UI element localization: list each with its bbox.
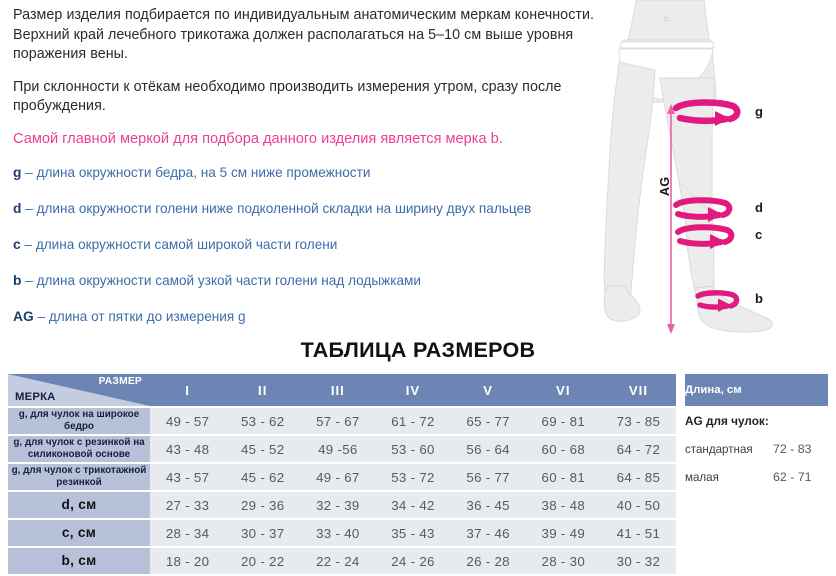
figure-label-b: b bbox=[755, 291, 763, 306]
cell-r0-c6: 69 - 81 bbox=[526, 408, 601, 434]
corner-measure-label: МЕРКА bbox=[15, 391, 56, 403]
column-header-3: III bbox=[300, 374, 375, 406]
column-header-6: VI bbox=[526, 374, 601, 406]
legend-dash-c: – bbox=[24, 237, 32, 252]
cell-r5-c4: 24 - 26 bbox=[375, 548, 450, 574]
legend-key-d: d bbox=[13, 201, 21, 216]
cell-r0-c5: 65 - 77 bbox=[451, 408, 526, 434]
table-gap-cell bbox=[676, 436, 685, 462]
cell-r5-c5: 26 - 28 bbox=[451, 548, 526, 574]
table-gap-cell bbox=[676, 548, 685, 574]
measurement-legend-list: g – длина окружности бедра, на 5 см ниже… bbox=[13, 155, 613, 335]
figure-label-ag: AG bbox=[658, 176, 672, 196]
cell-r4-c2: 30 - 37 bbox=[225, 520, 300, 546]
instructions-text-column: Размер изделия подбирается по индивидуал… bbox=[13, 6, 613, 335]
table-row: d, см 27 - 33 29 - 36 32 - 39 34 - 42 36… bbox=[8, 492, 828, 518]
cell-r0-c4: 61 - 72 bbox=[375, 408, 450, 434]
cell-r2-c5: 56 - 77 bbox=[451, 464, 526, 490]
cell-r3-c1: 27 - 33 bbox=[150, 492, 225, 518]
legend-item-d: d – длина окружности голени ниже подколе… bbox=[13, 191, 613, 227]
body-silhouette-svg bbox=[600, 0, 836, 340]
legend-dash-g: – bbox=[25, 165, 33, 180]
length-cell-0: AG для чулок: bbox=[685, 408, 828, 434]
cell-r3-c2: 29 - 36 bbox=[225, 492, 300, 518]
table-header-row: РАЗМЕР МЕРКА I II III IV V VI VII Длина,… bbox=[8, 374, 828, 406]
cell-r4-c1: 28 - 34 bbox=[150, 520, 225, 546]
legend-text-b: длина окружности самой узкой части голен… bbox=[37, 273, 421, 288]
cell-r5-c6: 28 - 30 bbox=[526, 548, 601, 574]
legend-key-c: c bbox=[13, 237, 21, 252]
figure-label-g: g bbox=[755, 104, 763, 119]
cell-r2-c6: 60 - 81 bbox=[526, 464, 601, 490]
table-body: g, для чулок на широкое бедро 49 - 57 53… bbox=[8, 408, 828, 574]
cell-r5-c3: 22 - 24 bbox=[300, 548, 375, 574]
cell-r0-c7: 73 - 85 bbox=[601, 408, 676, 434]
legend-text-d: длина окружности голени ниже подколенной… bbox=[37, 201, 532, 216]
cell-r1-c1: 43 - 48 bbox=[150, 436, 225, 462]
cell-r0-c3: 57 - 67 bbox=[300, 408, 375, 434]
cell-r1-c4: 53 - 60 bbox=[375, 436, 450, 462]
column-header-4: IV bbox=[375, 374, 450, 406]
legend-text-c: длина окружности самой широкой части гол… bbox=[36, 237, 338, 252]
legend-key-ag: AG bbox=[13, 309, 34, 324]
legend-item-g: g – длина окружности бедра, на 5 см ниже… bbox=[13, 155, 613, 191]
cell-r3-c5: 36 - 45 bbox=[451, 492, 526, 518]
cell-r2-c2: 45 - 62 bbox=[225, 464, 300, 490]
size-table: РАЗМЕР МЕРКА I II III IV V VI VII Длина,… bbox=[8, 372, 828, 576]
cell-r1-c6: 60 - 68 bbox=[526, 436, 601, 462]
cell-r2-c1: 43 - 57 bbox=[150, 464, 225, 490]
body-silhouette-shape bbox=[604, 0, 772, 332]
length-cell-2: малая62 - 71 bbox=[685, 464, 828, 490]
legend-text-ag: длина от пятки до измерения g bbox=[49, 309, 246, 324]
length-name-2: малая bbox=[685, 471, 773, 484]
cell-r3-c4: 34 - 42 bbox=[375, 492, 450, 518]
table-gap-cell bbox=[676, 520, 685, 546]
legend-key-g: g bbox=[13, 165, 21, 180]
table-corner-header: РАЗМЕР МЕРКА bbox=[8, 374, 150, 406]
cell-r2-c4: 53 - 72 bbox=[375, 464, 450, 490]
length-cell-1: стандартная72 - 83 bbox=[685, 436, 828, 462]
corner-size-label: РАЗМЕР bbox=[99, 376, 142, 387]
cell-r1-c7: 64 - 72 bbox=[601, 436, 676, 462]
table-row: g, для чулок на широкое бедро 49 - 57 53… bbox=[8, 408, 828, 434]
intro-paragraph-1: Размер изделия подбирается по индивидуал… bbox=[13, 6, 613, 65]
cell-r0-c2: 53 - 62 bbox=[225, 408, 300, 434]
cell-r1-c2: 45 - 52 bbox=[225, 436, 300, 462]
size-table-container: РАЗМЕР МЕРКА I II III IV V VI VII Длина,… bbox=[8, 372, 828, 576]
cell-r3-c3: 32 - 39 bbox=[300, 492, 375, 518]
cell-r5-c2: 20 - 22 bbox=[225, 548, 300, 574]
column-header-5: V bbox=[451, 374, 526, 406]
leg-measurement-diagram: g d c b AG bbox=[600, 0, 836, 340]
table-row: c, см 28 - 34 30 - 37 33 - 40 35 - 43 37… bbox=[8, 520, 828, 546]
figure-label-c: c bbox=[755, 227, 762, 242]
instructions-and-figure-section: Размер изделия подбирается по индивидуал… bbox=[0, 0, 836, 332]
length-value-2: 62 - 71 bbox=[773, 470, 812, 484]
legend-key-b: b bbox=[13, 273, 21, 288]
length-cell-4 bbox=[685, 520, 828, 546]
table-row: g, для чулок с резинкой на силиконовой о… bbox=[8, 436, 828, 462]
legend-item-b: b – длина окружности самой узкой части г… bbox=[13, 263, 613, 299]
highlight-note: Самой главной меркой для подбора данного… bbox=[13, 130, 613, 149]
legend-dash-d: – bbox=[25, 201, 33, 216]
cell-r5-c7: 30 - 32 bbox=[601, 548, 676, 574]
cell-r3-c7: 40 - 50 bbox=[601, 492, 676, 518]
legend-item-ag: AG – длина от пятки до измерения g bbox=[13, 299, 613, 335]
row-label-g-wide-thigh: g, для чулок на широкое бедро bbox=[8, 408, 150, 434]
length-cell-5 bbox=[685, 548, 828, 574]
column-header-1: I bbox=[150, 374, 225, 406]
row-label-c: c, см bbox=[8, 520, 150, 546]
cell-r4-c7: 41 - 51 bbox=[601, 520, 676, 546]
intro-paragraph-2: При склонности к отёкам необходимо произ… bbox=[13, 78, 613, 117]
figure-label-d: d bbox=[755, 200, 763, 215]
cell-r1-c5: 56 - 64 bbox=[451, 436, 526, 462]
row-label-g-knit-band: g, для чулок с трикотажной резинкой bbox=[8, 464, 150, 490]
column-header-7: VII bbox=[601, 374, 676, 406]
legend-dash-b: – bbox=[25, 273, 33, 288]
table-gap-cell bbox=[676, 492, 685, 518]
page-title: ТАБЛИЦА РАЗМЕРОВ bbox=[0, 338, 836, 363]
cell-r0-c1: 49 - 57 bbox=[150, 408, 225, 434]
cell-r2-c7: 64 - 85 bbox=[601, 464, 676, 490]
length-name-0: AG для чулок: bbox=[685, 414, 773, 428]
cell-r3-c6: 38 - 48 bbox=[526, 492, 601, 518]
legend-dash-ag: – bbox=[37, 309, 45, 324]
table-gap-cell bbox=[676, 408, 685, 434]
cell-r4-c3: 33 - 40 bbox=[300, 520, 375, 546]
legend-item-c: c – длина окружности самой широкой части… bbox=[13, 227, 613, 263]
table-row: b, см 18 - 20 20 - 22 22 - 24 24 - 26 26… bbox=[8, 548, 828, 574]
column-header-2: II bbox=[225, 374, 300, 406]
length-cell-3 bbox=[685, 492, 828, 518]
cell-r1-c3: 49 -56 bbox=[300, 436, 375, 462]
cell-r4-c4: 35 - 43 bbox=[375, 520, 450, 546]
length-value-1: 72 - 83 bbox=[773, 442, 812, 456]
table-gap-cell bbox=[676, 464, 685, 490]
cell-r4-c6: 39 - 49 bbox=[526, 520, 601, 546]
cell-r5-c1: 18 - 20 bbox=[150, 548, 225, 574]
legend-text-g: длина окружности бедра, на 5 см ниже про… bbox=[37, 165, 371, 180]
table-row: g, для чулок с трикотажной резинкой 43 -… bbox=[8, 464, 828, 490]
cell-r4-c5: 37 - 46 bbox=[451, 520, 526, 546]
length-column-header: Длина, см bbox=[685, 374, 828, 406]
row-label-d: d, см bbox=[8, 492, 150, 518]
row-label-g-silicone-band: g, для чулок с резинкой на силиконовой о… bbox=[8, 436, 150, 462]
cell-r2-c3: 49 - 67 bbox=[300, 464, 375, 490]
length-name-1: стандартная bbox=[685, 443, 773, 456]
row-label-b: b, см bbox=[8, 548, 150, 574]
table-gap-column bbox=[676, 374, 685, 406]
